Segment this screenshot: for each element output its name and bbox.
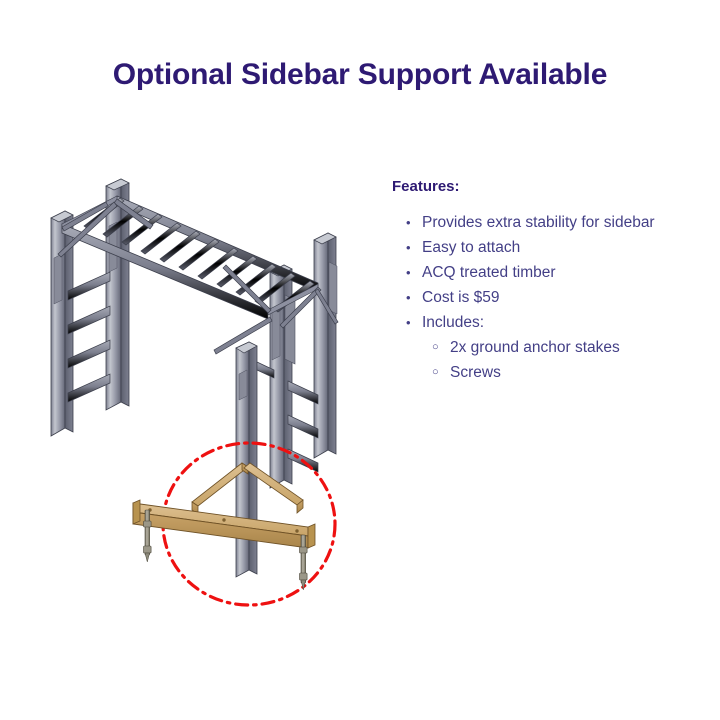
sub-bullet-icon: ○ xyxy=(432,335,439,360)
product-illustration xyxy=(18,150,390,630)
features-heading: Features: xyxy=(392,178,708,196)
feature-item: • ACQ treated timber xyxy=(392,260,708,285)
feature-item-label: Provides extra stability for sidebar xyxy=(422,214,655,231)
sub-bullet-icon: ○ xyxy=(432,360,439,385)
feature-item-label: Cost is $59 xyxy=(422,289,500,306)
bullet-icon: • xyxy=(406,285,411,310)
feature-item: • Cost is $59 xyxy=(392,285,708,310)
feature-sub-item-label: Screws xyxy=(450,364,501,381)
monkey-bar-frame-svg xyxy=(18,150,390,630)
feature-sub-item: ○ 2x ground anchor stakes xyxy=(422,335,708,360)
feature-item-label: ACQ treated timber xyxy=(422,264,556,281)
bullet-icon: • xyxy=(406,310,411,335)
feature-sub-list: ○ 2x ground anchor stakes ○ Screws xyxy=(422,335,708,385)
feature-item: • Easy to attach xyxy=(392,235,708,260)
feature-item-label: Includes: xyxy=(422,314,484,331)
bullet-icon: • xyxy=(406,260,411,285)
slide-canvas: Optional Sidebar Support Available xyxy=(0,0,720,720)
page-title: Optional Sidebar Support Available xyxy=(0,58,720,93)
bullet-icon: • xyxy=(406,235,411,260)
bullet-icon: • xyxy=(406,210,411,235)
feature-sub-item: ○ Screws xyxy=(422,360,708,385)
feature-item: • Includes: ○ 2x ground anchor stakes ○ … xyxy=(392,310,708,385)
feature-item-label: Easy to attach xyxy=(422,239,520,256)
features-panel: Features: • Provides extra stability for… xyxy=(392,178,708,385)
feature-item: • Provides extra stability for sidebar xyxy=(392,210,708,235)
features-list: • Provides extra stability for sidebar •… xyxy=(392,210,708,385)
feature-sub-item-label: 2x ground anchor stakes xyxy=(450,339,620,356)
left-ladder-post-pair xyxy=(51,179,129,436)
